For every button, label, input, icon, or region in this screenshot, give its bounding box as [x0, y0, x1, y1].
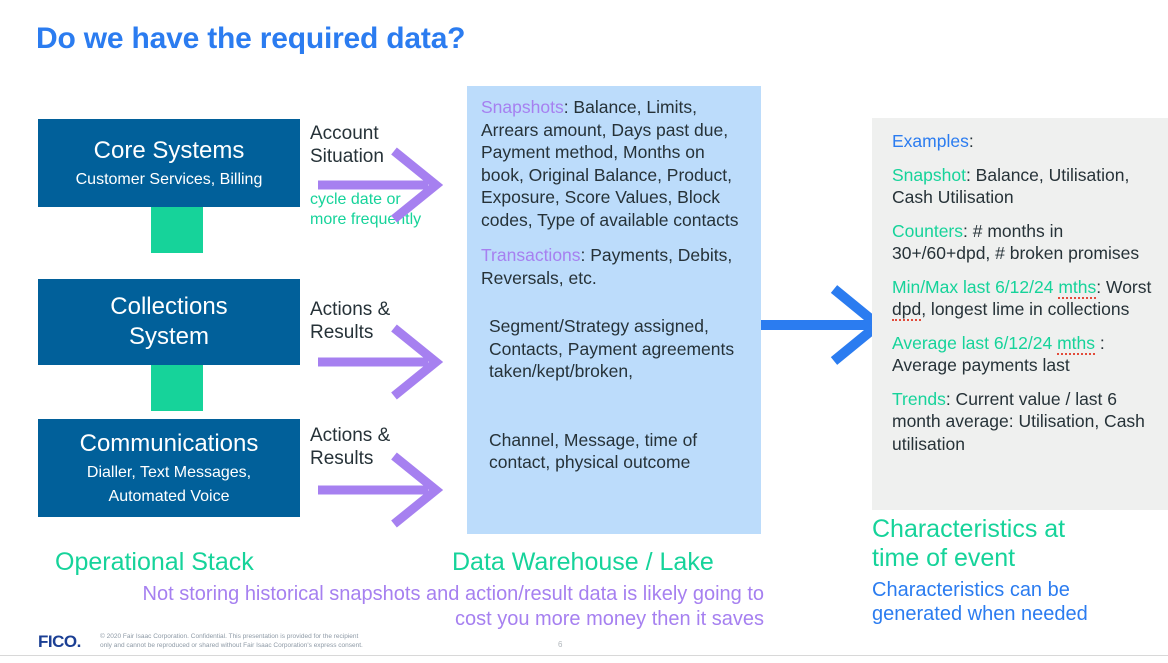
characteristic-heading-examples: Examples: [892, 131, 969, 151]
characteristic-heading-counters: Counters: [892, 221, 963, 241]
page-title: Do we have the required data?: [36, 22, 936, 56]
stack-connector-2: [151, 365, 203, 411]
arrow-right-purple-3: [316, 450, 446, 530]
collections-title-line1: Collections: [110, 292, 227, 322]
characteristic-heading-average: Average last 6/12/24: [892, 333, 1057, 353]
characteristic-item-trends: Trends: Current value / last 6 month ave…: [892, 388, 1152, 456]
characteristic-heading-minmax: Min/Max last 6/12/24: [892, 277, 1058, 297]
collections-title-line2: System: [129, 322, 209, 352]
page-number: 6: [558, 640, 562, 649]
warehouse-block-segment: Segment/Strategy assigned, Contacts, Pay…: [481, 315, 747, 383]
arrow-right-blue: [748, 285, 888, 365]
flow-label-line1: Actions &: [310, 298, 450, 321]
system-box-core-systems: Core Systems Customer Services, Billing: [38, 119, 300, 207]
characteristic-body-examples: :: [969, 131, 974, 151]
caption-data-warehouse: Data Warehouse / Lake: [452, 548, 714, 577]
copyright-line1: © 2020 Fair Isaac Corporation. Confident…: [100, 632, 460, 641]
caption-warning-text: Not storing historical snapshots and act…: [110, 582, 764, 632]
warehouse-block-snapshots: Snapshots: Balance, Limits, Arrears amou…: [481, 96, 747, 231]
panel-characteristics: Examples: Snapshot: Balance, Utilisation…: [872, 118, 1168, 510]
characteristic-heading-snapshot: Snapshot: [892, 165, 966, 185]
caption-operational-stack: Operational Stack: [55, 548, 254, 577]
warehouse-body-segment: Segment/Strategy assigned, Contacts, Pay…: [489, 316, 734, 381]
copyright-notice: © 2020 Fair Isaac Corporation. Confident…: [100, 632, 460, 650]
fico-logo: FICO.: [38, 632, 81, 652]
communications-title: Communications: [80, 429, 259, 459]
panel-data-warehouse: Snapshots: Balance, Limits, Arrears amou…: [467, 86, 761, 534]
caption-characteristics: Characteristics at time of event: [872, 515, 1142, 573]
characteristic-item-minmax: Min/Max last 6/12/24 mths: Worst dpd, lo…: [892, 276, 1152, 321]
copyright-line2: only and cannot be reproduced or shared …: [100, 641, 460, 650]
system-box-collections-system: Collections System: [38, 279, 300, 365]
characteristic-body-minmax: : Worst: [1096, 277, 1151, 297]
characteristic-item-examples: Examples:: [892, 130, 1152, 153]
warehouse-body-channel: Channel, Message, time of contact, physi…: [489, 430, 697, 473]
characteristic-body-minmax-tail: , longest lime in collections: [921, 299, 1129, 319]
arrow-right-purple-2: [316, 322, 446, 402]
caption-characteristics-line2: time of event: [872, 544, 1142, 573]
spellcheck-word-mths-2: mths: [1057, 333, 1095, 355]
flow-label-line1: Actions &: [310, 424, 450, 447]
communications-subtitle-line2: Automated Voice: [109, 487, 230, 507]
stack-connector-1: [151, 207, 203, 253]
footer-divider: [0, 655, 1168, 656]
warehouse-heading-transactions: Transactions: [481, 245, 581, 265]
spellcheck-word-dpd: dpd: [892, 299, 921, 321]
warehouse-block-transactions: Transactions: Payments, Debits, Reversal…: [481, 244, 747, 289]
warehouse-heading-snapshots: Snapshots: [481, 97, 564, 117]
communications-subtitle-line1: Dialler, Text Messages,: [87, 463, 251, 483]
core-systems-subtitle: Customer Services, Billing: [76, 170, 263, 190]
arrow-right-purple-1: [316, 145, 446, 225]
warehouse-block-channel: Channel, Message, time of contact, physi…: [481, 429, 747, 474]
caption-characteristics-subtext: Characteristics can be generated when ne…: [872, 578, 1152, 626]
flow-label-line1: Account: [310, 122, 440, 145]
characteristic-item-average: Average last 6/12/24 mths : Average paym…: [892, 332, 1152, 377]
characteristic-heading-trends: Trends: [892, 389, 946, 409]
system-box-communications: Communications Dialler, Text Messages, A…: [38, 419, 300, 517]
caption-characteristics-line1: Characteristics at: [872, 515, 1142, 544]
core-systems-title: Core Systems: [94, 136, 245, 166]
spellcheck-word-mths: mths: [1058, 277, 1096, 299]
characteristic-item-snapshot: Snapshot: Balance, Utilisation, Cash Uti…: [892, 164, 1152, 209]
characteristic-item-counters: Counters: # months in 30+/60+dpd, # brok…: [892, 220, 1152, 265]
